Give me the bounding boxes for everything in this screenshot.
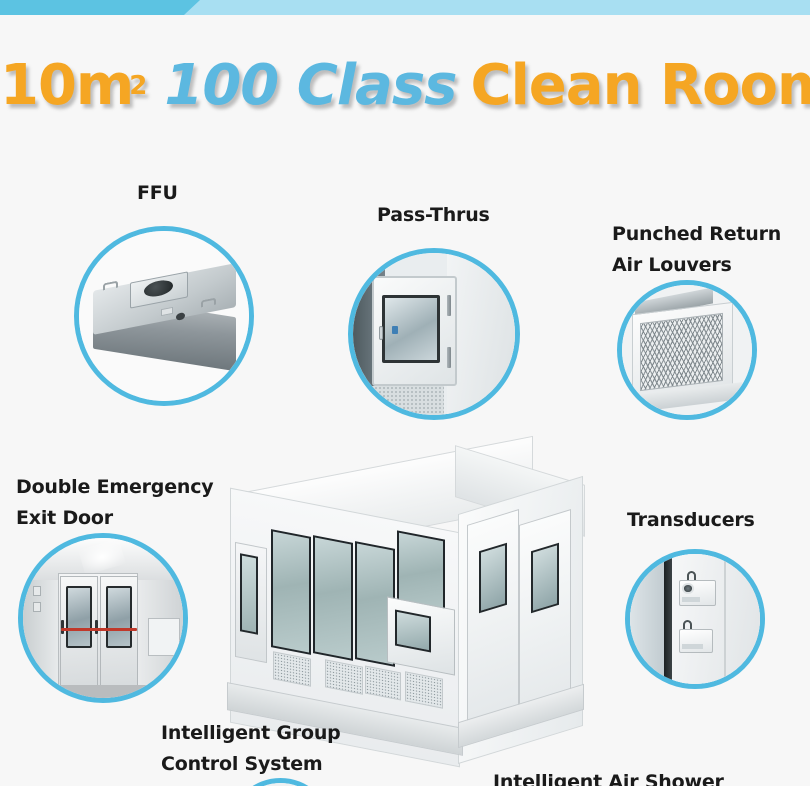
transducer-wall-panel bbox=[672, 554, 760, 684]
pass-thru-hinge-bottom bbox=[447, 347, 451, 368]
photo-transducers bbox=[625, 549, 765, 689]
label-intelligent-group-control-system: Intelligent Group Control System bbox=[161, 718, 341, 781]
photo-ffu bbox=[74, 226, 254, 406]
room-front-access-door-glass bbox=[240, 553, 258, 634]
label-intelligent-air-shower: Intelligent Air Shower bbox=[493, 767, 724, 786]
transducer-glass-wall bbox=[630, 554, 664, 684]
top-banner-bar bbox=[0, 0, 810, 15]
label-intelligent-group-control-system-line1: Intelligent Group bbox=[161, 718, 341, 749]
title-class-value: 100 Class bbox=[164, 53, 456, 118]
room-side-door-left bbox=[467, 509, 519, 725]
door-grip-right bbox=[95, 620, 98, 634]
pass-thru-right-wall bbox=[447, 253, 515, 415]
door-scene bbox=[23, 538, 183, 698]
label-transducers: Transducers bbox=[627, 505, 755, 536]
pass-thru-window bbox=[382, 295, 440, 363]
transducer-scene bbox=[630, 554, 760, 684]
label-double-emergency-exit-door-line2: Exit Door bbox=[16, 503, 213, 534]
top-banner-left-block bbox=[0, 0, 200, 15]
transducer-label-upper bbox=[682, 597, 700, 602]
transducer-wall-seam bbox=[724, 554, 726, 684]
label-punched-return-air-louvers-line2: Air Louvers bbox=[612, 250, 781, 281]
door-leaf-left bbox=[60, 576, 98, 688]
label-intelligent-group-control-system-line2: Control System bbox=[161, 749, 341, 780]
title-area-value: 10m bbox=[0, 53, 133, 118]
door-leaf-right bbox=[100, 576, 138, 688]
door-control-box-lower bbox=[33, 602, 41, 612]
door-right-equipment-panel bbox=[148, 618, 180, 656]
pass-thru-scene bbox=[353, 253, 515, 415]
pass-thru-return-grille bbox=[366, 386, 444, 415]
label-double-emergency-exit-door-line1: Double Emergency bbox=[16, 472, 213, 503]
product-feature-page: 10m2100 ClassClean Rooms FFU Pass-Thrus bbox=[0, 0, 810, 786]
room-side-door-left-glass bbox=[479, 543, 507, 614]
label-punched-return-air-louvers-line1: Punched Return bbox=[612, 219, 781, 250]
title-area-superscript: 2 bbox=[129, 71, 146, 101]
page-title: 10m2100 ClassClean Rooms bbox=[0, 58, 810, 114]
transducer-sensor-head bbox=[682, 583, 694, 593]
room-window-2 bbox=[313, 535, 353, 661]
pass-thru-hinge-top bbox=[447, 295, 451, 316]
transducer-label-lower bbox=[682, 644, 703, 649]
room-pass-through-box-window bbox=[395, 610, 431, 653]
emergency-push-bar bbox=[61, 628, 136, 632]
transducer-conduit-upper bbox=[687, 571, 696, 580]
transducer-wall-mullion bbox=[664, 554, 672, 684]
photo-double-emergency-exit-door bbox=[18, 533, 188, 703]
door-control-box-upper bbox=[33, 586, 41, 596]
photo-pass-thrus bbox=[348, 248, 520, 420]
photo-punched-return-air-louvers bbox=[617, 280, 757, 420]
louver-perforated-mesh bbox=[640, 312, 723, 390]
louver-scene bbox=[622, 285, 752, 415]
room-side-door-right-glass bbox=[531, 543, 559, 614]
transducer-conduit-lower bbox=[683, 620, 692, 629]
label-punched-return-air-louvers: Punched Return Air Louvers bbox=[612, 219, 781, 282]
label-pass-thrus: Pass-Thrus bbox=[377, 200, 490, 231]
label-double-emergency-exit-door: Double Emergency Exit Door bbox=[16, 472, 213, 535]
door-leaf-left-vision-panel bbox=[66, 586, 92, 648]
title-product-name: Clean Rooms bbox=[471, 53, 810, 118]
door-left-wall bbox=[23, 580, 58, 689]
ffu-scene bbox=[79, 231, 249, 401]
label-ffu: FFU bbox=[137, 178, 178, 209]
door-floor bbox=[23, 685, 183, 698]
pass-thru-indicator-badge bbox=[392, 326, 398, 334]
door-grip-left bbox=[61, 620, 64, 634]
door-leaf-right-vision-panel bbox=[106, 586, 132, 648]
pass-thru-handle bbox=[379, 326, 383, 341]
room-window-1 bbox=[271, 529, 311, 655]
transducer-unit-lower bbox=[679, 629, 713, 652]
